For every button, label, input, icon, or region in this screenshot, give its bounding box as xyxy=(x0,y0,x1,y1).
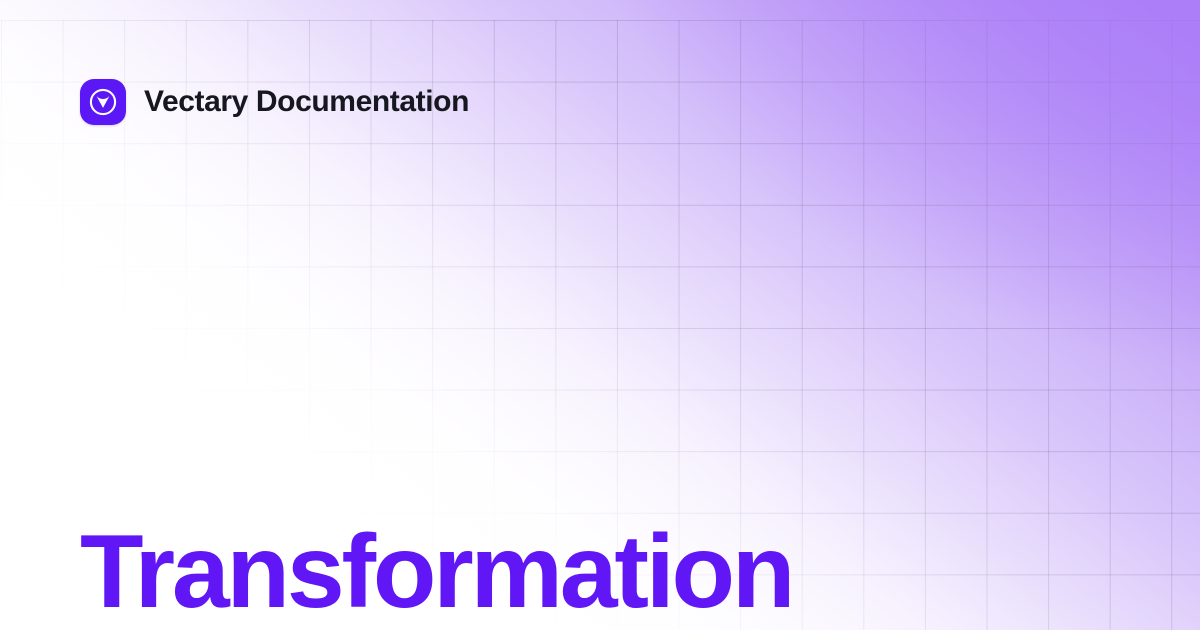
page-title: Vectary Documentation xyxy=(144,87,469,117)
doc-page-heading: Transformation xyxy=(80,520,792,624)
doc-banner: Vectary Documentation Transformation xyxy=(0,0,1200,630)
vectary-v-logo-icon[interactable] xyxy=(80,79,126,125)
brand-header[interactable]: Vectary Documentation xyxy=(80,79,469,125)
